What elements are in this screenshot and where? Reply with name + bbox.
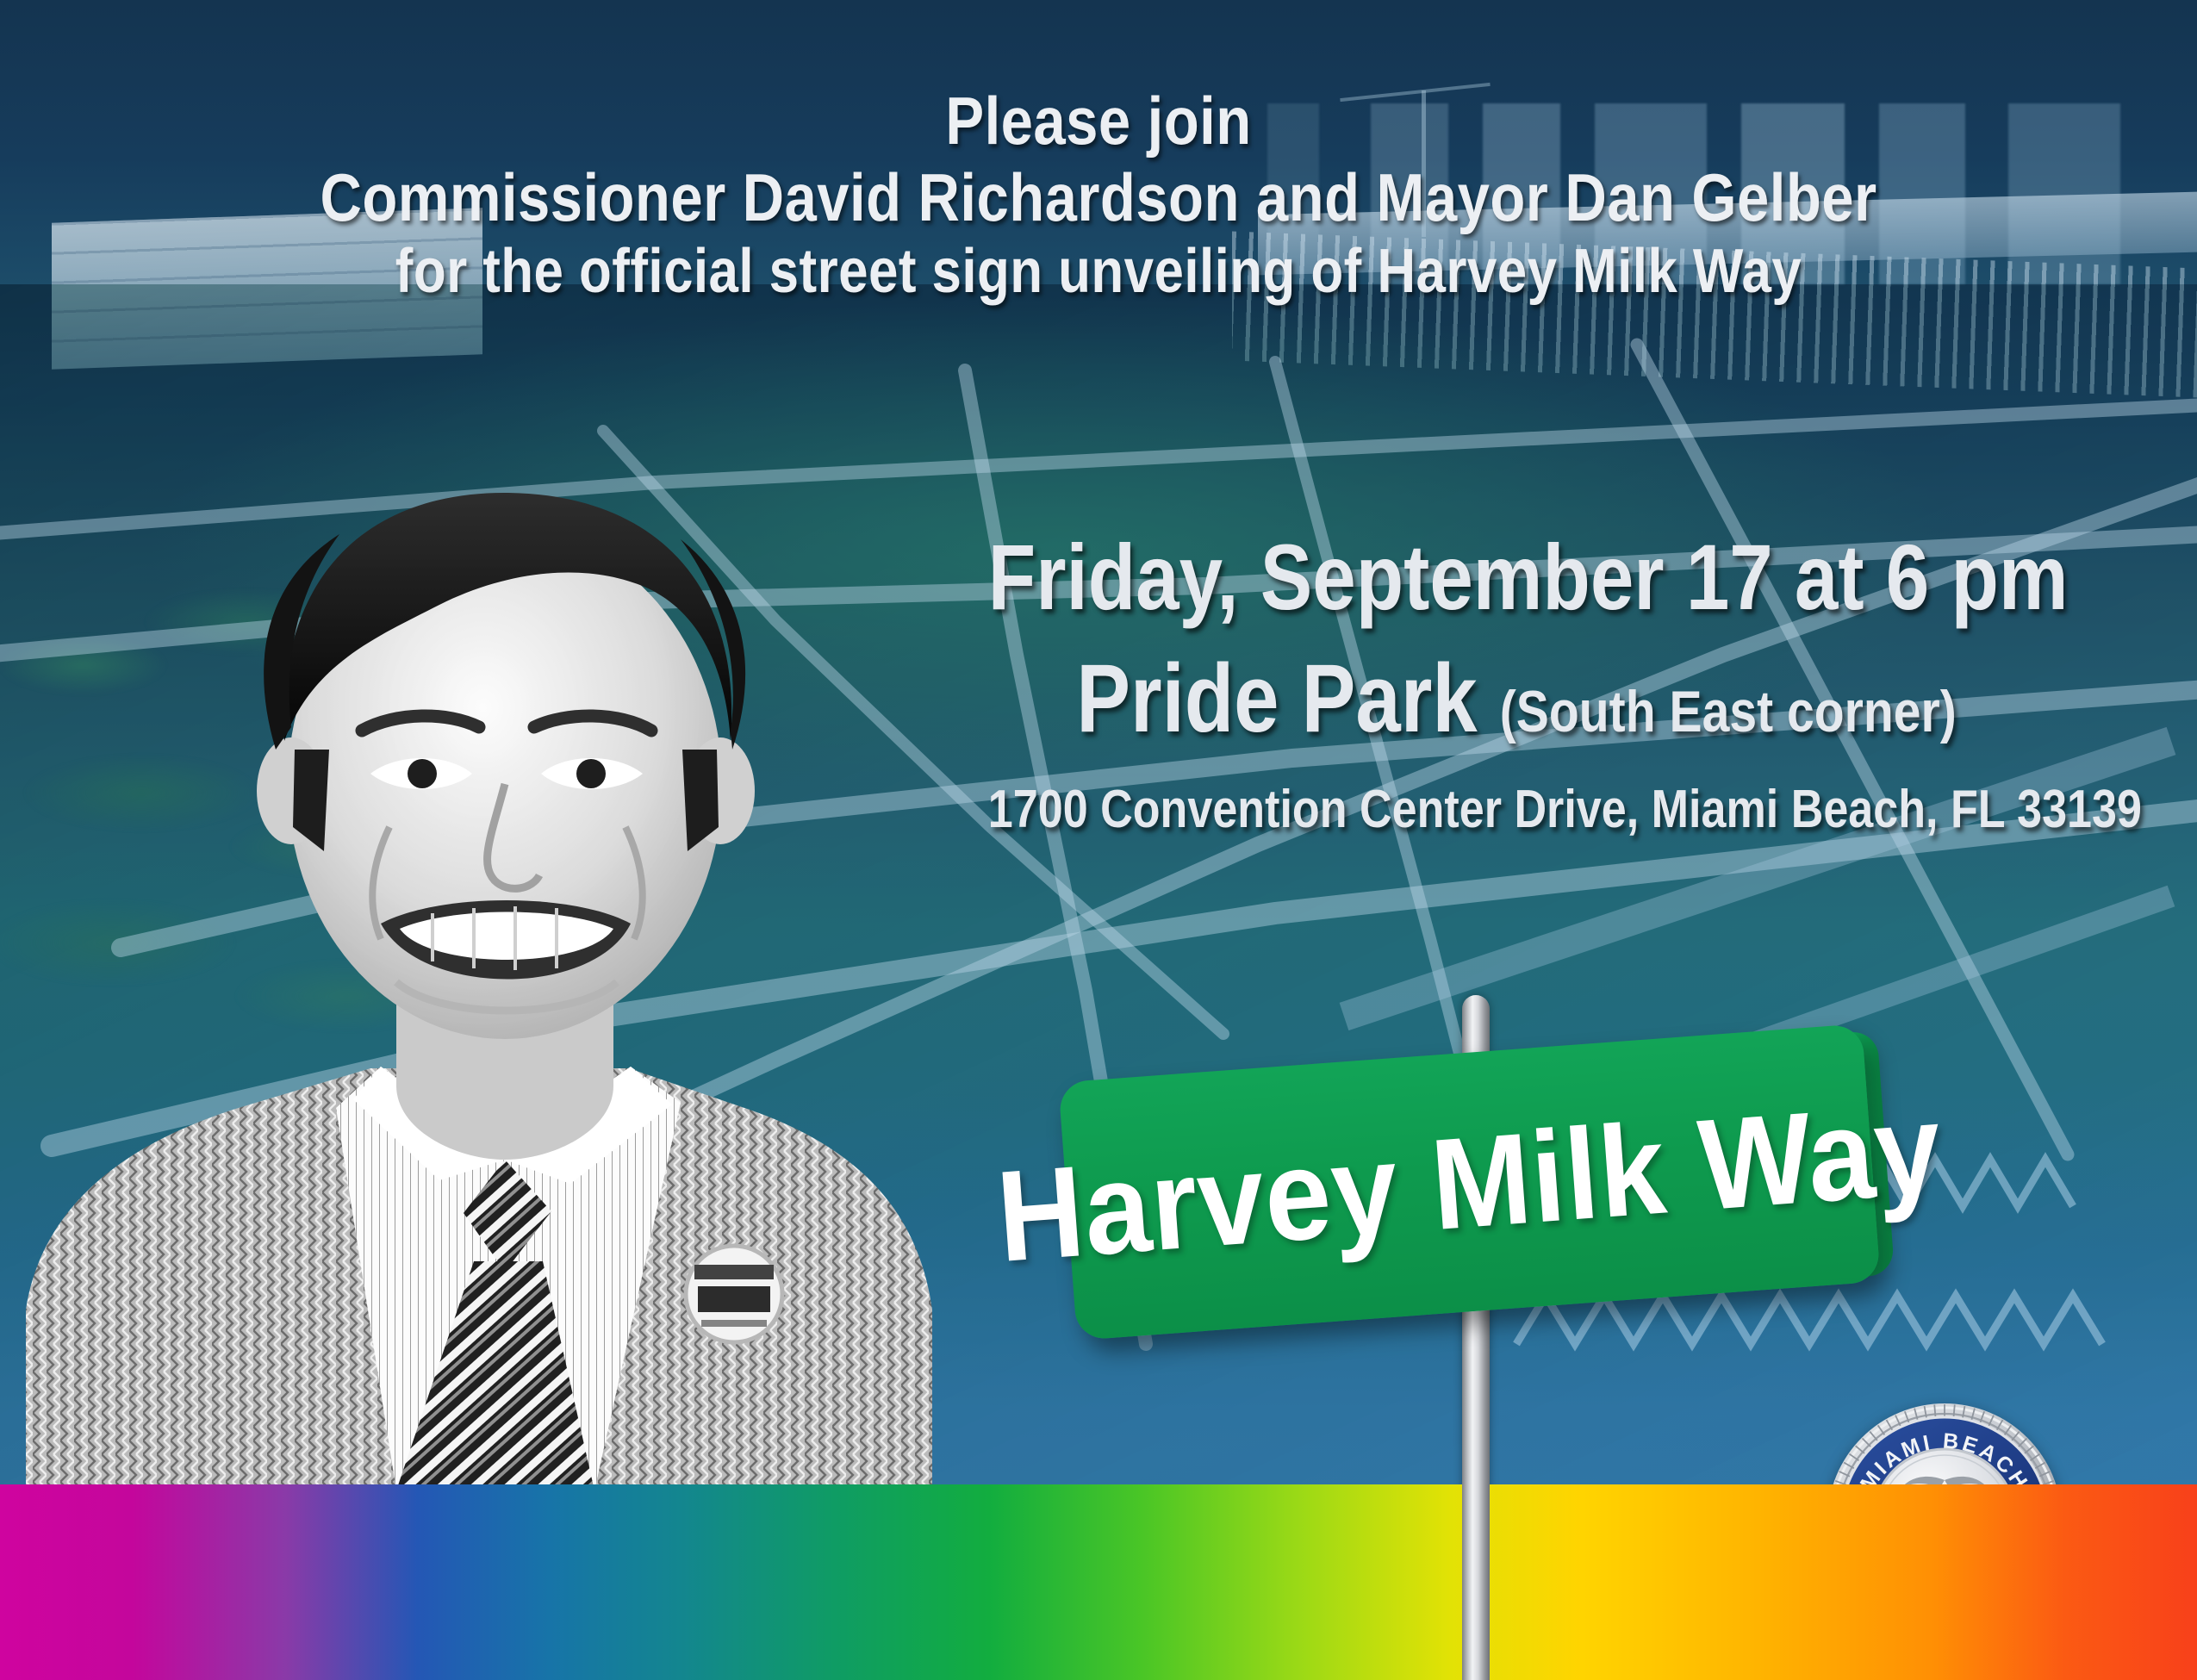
event-address: 1700 Convention Center Drive, Miami Beac… [988, 778, 2045, 842]
pride-rainbow-bar [0, 1484, 2197, 1680]
headline-line-1: Please join [154, 83, 2044, 159]
street-sign-label: Harvey Milk Way [1091, 1026, 1849, 1338]
headline-line-2: Commissioner David Richardson and Mayor … [154, 159, 2044, 236]
harvey-milk-portrait [0, 379, 1008, 1490]
headline-line-3: for the official street sign unveiling o… [154, 236, 2044, 307]
venue-note: (South East corner) [1500, 679, 1957, 744]
invitation-headline: Please join Commissioner David Richardso… [154, 83, 2044, 307]
event-details: Friday, September 17 at 6 pm Pride Park … [988, 526, 2045, 843]
event-date: Friday, September 17 at 6 pm [988, 526, 2045, 630]
venue-name: Pride Park [1076, 644, 1477, 752]
event-invitation-poster: Please join Commissioner David Richardso… [0, 0, 2197, 1680]
event-venue: Pride Park (South East corner) [988, 642, 2045, 756]
harvey-milk-campaign-button [686, 1246, 782, 1342]
street-sign-pole-lower [1462, 1484, 1490, 1680]
